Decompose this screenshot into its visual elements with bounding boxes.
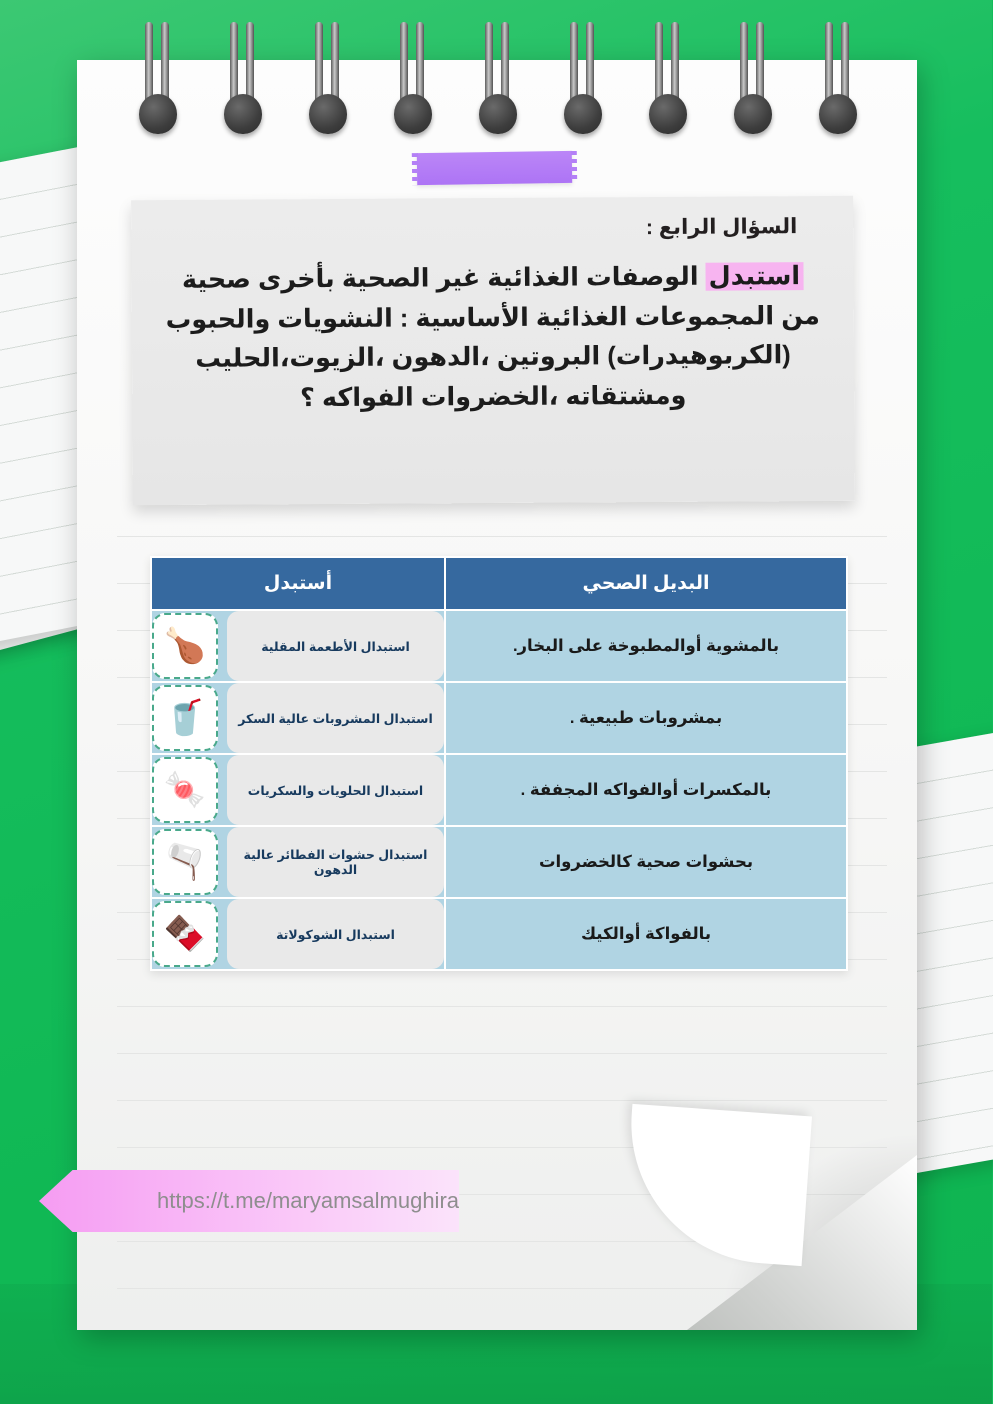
highlighted-verb: استبدل — [707, 262, 805, 291]
header-healthy-alternative: البديل الصحي — [447, 558, 847, 609]
chocolate-bar-icon: 🍫 — [153, 901, 219, 967]
table-row: بالفواكة أوالكيك 🍫 استبدال الشوكولاتة — [153, 899, 847, 969]
swap-cell: 🍗 استبدال الأطعمة المقلية — [153, 611, 445, 681]
sugary-drinks-icon: 🥤 — [153, 685, 219, 751]
alternative-cell: بحشوات صحية كالخضروات — [447, 827, 847, 897]
spiral-ring — [565, 22, 603, 134]
table-body: بالمشوية أوالمطبوخة على البخار. 🍗 استبدا… — [153, 611, 847, 969]
spiral-ring — [310, 22, 348, 134]
table-header-row: البديل الصحي أستبدل — [153, 558, 847, 609]
question-body: استبدل الوصفات الغذائية غير الصحية بأخرى… — [160, 257, 827, 419]
washi-tape — [418, 151, 573, 185]
alternative-cell: بالمكسرات أوالفواكه المجففة . — [447, 755, 847, 825]
url-ribbon[interactable]: https://t.me/maryamsalmughira — [40, 1170, 460, 1232]
candy-sweets-icon: 🍬 — [153, 757, 219, 823]
swap-label: استبدال المشروبات عالية السكر — [228, 683, 445, 753]
header-swap: أستبدل — [153, 558, 445, 609]
table-row: بحشوات صحية كالخضروات 🫗 استبدال حشوات ال… — [153, 827, 847, 897]
alternative-cell: بالفواكة أوالكيك — [447, 899, 847, 969]
spiral-ring — [820, 22, 858, 134]
question-card: السؤال الرابع : استبدل الوصفات الغذائية … — [132, 196, 856, 505]
oil-drop-icon: 🫗 — [153, 829, 219, 895]
alternative-cell: بالمشوية أوالمطبوخة على البخار. — [447, 611, 847, 681]
table-row: بمشروبات طبيعية . 🥤 استبدال المشروبات عا… — [153, 683, 847, 753]
spiral-ring — [480, 22, 518, 134]
ribbon-url-text: https://t.me/maryamsalmughira — [158, 1188, 460, 1214]
swap-cell: 🥤 استبدال المشروبات عالية السكر — [153, 683, 445, 753]
swap-cell: 🫗 استبدال حشوات الفطائر عالية الدهون — [153, 827, 445, 897]
spiral-ring — [650, 22, 688, 134]
spiral-ring — [225, 22, 263, 134]
spiral-ring — [395, 22, 433, 134]
swap-cell: 🍬 استبدال الحلويات والسكريات — [153, 755, 445, 825]
fried-food-icon: 🍗 — [153, 613, 219, 679]
swap-label: استبدال حشوات الفطائر عالية الدهون — [228, 827, 445, 897]
table-row: بالمشوية أوالمطبوخة على البخار. 🍗 استبدا… — [153, 611, 847, 681]
swap-label: استبدال الحلويات والسكريات — [228, 755, 445, 825]
swap-cell: 🍫 استبدال الشوكولاتة — [153, 899, 445, 969]
alternative-cell: بمشروبات طبيعية . — [447, 683, 847, 753]
spiral-ring — [735, 22, 773, 134]
swap-label: استبدال الشوكولاتة — [228, 899, 445, 969]
question-title: السؤال الرابع : — [160, 214, 826, 243]
spiral-binding — [120, 0, 880, 140]
swap-label: استبدال الأطعمة المقلية — [228, 611, 445, 681]
swap-table: البديل الصحي أستبدل بالمشوية أوالمطبوخة … — [151, 556, 849, 971]
table-row: بالمكسرات أوالفواكه المجففة . 🍬 استبدال … — [153, 755, 847, 825]
spiral-ring — [140, 22, 178, 134]
